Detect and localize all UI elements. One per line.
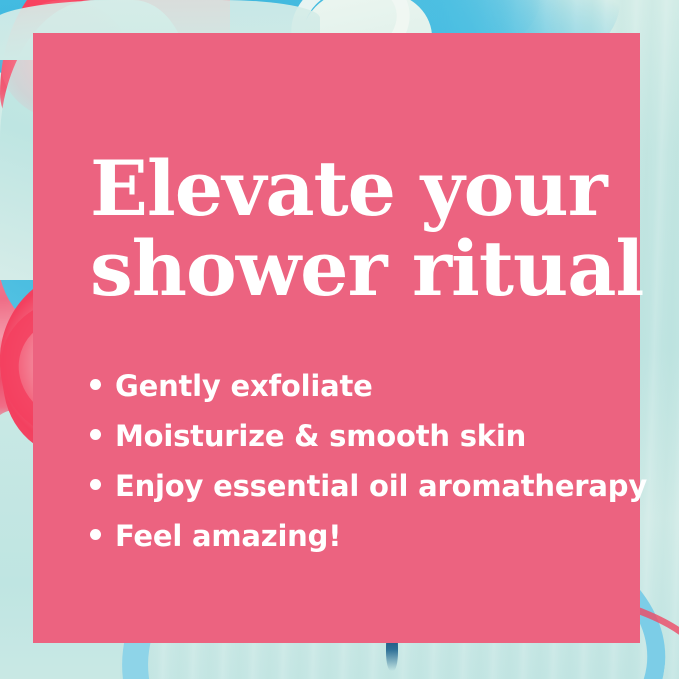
benefit-text: Enjoy essential oil aromatherapy	[115, 461, 647, 511]
benefit-text: Gently exfoliate	[115, 361, 373, 411]
headline-line-1: Elevate your	[90, 149, 620, 229]
list-item: Moisturize & smooth skin	[90, 411, 630, 461]
pink-content-panel: Elevate your shower ritual Gently exfoli…	[33, 33, 640, 643]
page-title: Elevate your shower ritual	[90, 149, 620, 309]
bullet-dot-icon	[90, 479, 101, 490]
benefits-list: Gently exfoliate Moisturize & smooth ski…	[90, 361, 630, 561]
list-item: Feel amazing!	[90, 511, 630, 561]
bullet-dot-icon	[90, 379, 101, 390]
bullet-dot-icon	[90, 529, 101, 540]
list-item: Gently exfoliate	[90, 361, 630, 411]
product-benefits-poster: Elevate your shower ritual Gently exfoli…	[0, 0, 679, 679]
headline-line-2: shower ritual	[90, 229, 620, 309]
benefit-text: Moisturize & smooth skin	[115, 411, 526, 461]
list-item: Enjoy essential oil aromatherapy	[90, 461, 630, 511]
benefit-text: Feel amazing!	[115, 511, 341, 561]
bullet-dot-icon	[90, 429, 101, 440]
